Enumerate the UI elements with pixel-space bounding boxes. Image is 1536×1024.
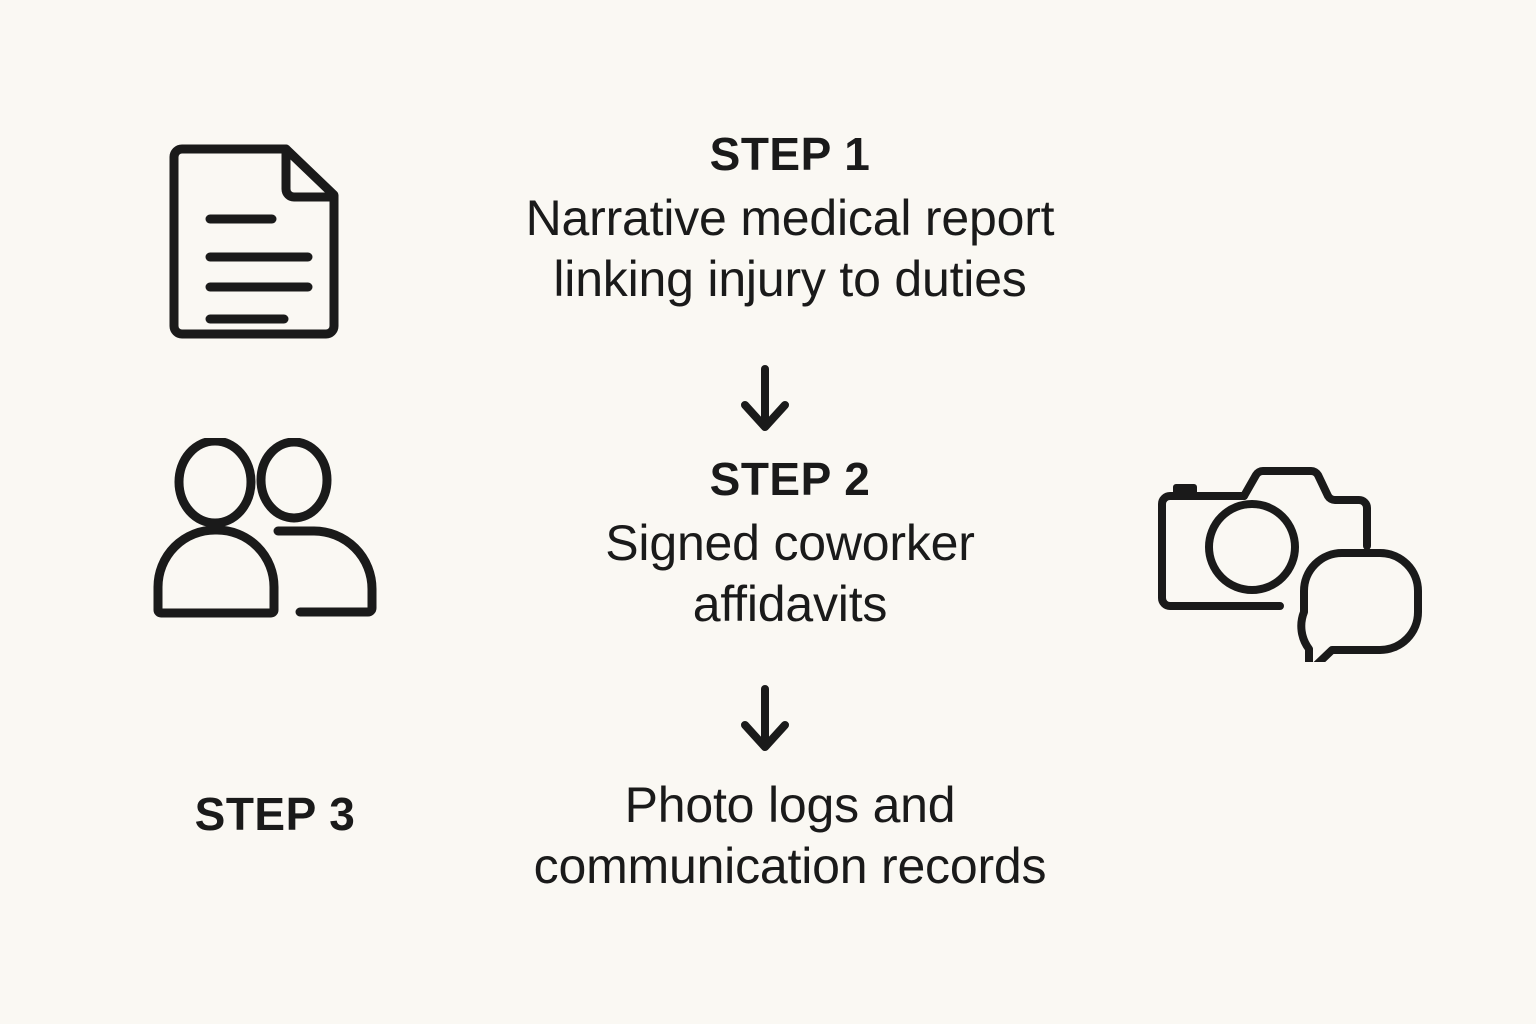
people-icon — [152, 438, 382, 618]
step-3-body-line-2: communication records — [420, 836, 1160, 897]
diagram-canvas: STEP 1 Narrative medical report linking … — [0, 0, 1536, 1024]
step-1-body-line-1: Narrative medical report — [420, 188, 1160, 249]
step-2-block: STEP 2 Signed coworker affidavits — [420, 455, 1160, 635]
camera-chat-icon — [1152, 462, 1422, 662]
step-3-body: Photo logs and communication records — [420, 775, 1160, 897]
step-3-body-line-1: Photo logs and — [420, 775, 1160, 836]
step-2-body: Signed coworker affidavits — [420, 513, 1160, 635]
arrow-step1-to-step2 — [735, 365, 795, 440]
step-1-body: Narrative medical report linking injury … — [420, 188, 1160, 310]
step-2-body-line-2: affidavits — [420, 574, 1160, 635]
step-3-block: Photo logs and communication records — [420, 775, 1160, 897]
arrow-step2-to-step3 — [735, 685, 795, 760]
step-2-label: STEP 2 — [420, 455, 1160, 503]
step-3-label: STEP 3 — [155, 790, 395, 838]
step-2-body-line-1: Signed coworker — [420, 513, 1160, 574]
step-1-label: STEP 1 — [420, 130, 1160, 178]
step-1-block: STEP 1 Narrative medical report linking … — [420, 130, 1160, 310]
step-1-body-line-2: linking injury to duties — [420, 249, 1160, 310]
document-icon — [168, 135, 348, 340]
